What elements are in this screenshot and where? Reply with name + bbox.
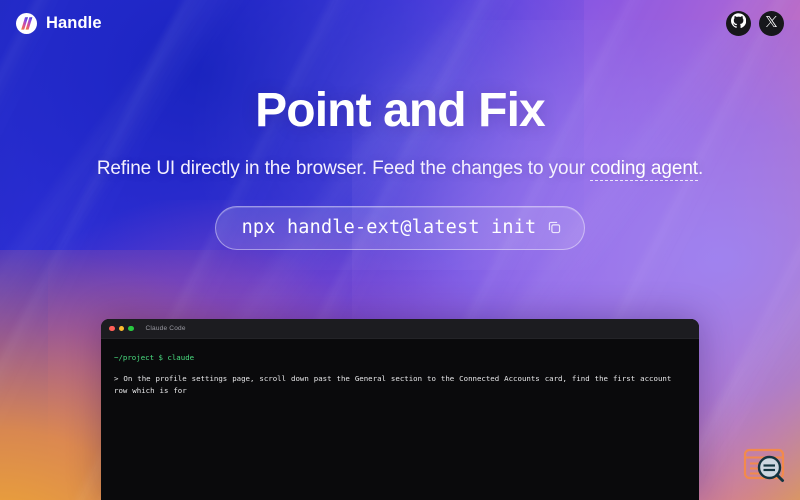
traffic-light-minimize-icon[interactable]	[119, 326, 125, 332]
hero-section: Point and Fix Refine UI directly in the …	[0, 86, 800, 250]
terminal-title: Claude Code	[146, 325, 186, 332]
site-header: Handle	[0, 0, 800, 46]
inspect-element-widget[interactable]	[736, 436, 792, 492]
hero-subtitle-text-after: .	[698, 158, 703, 179]
hero-subtitle-text-before: Refine UI directly in the browser. Feed …	[97, 158, 591, 179]
x-twitter-link[interactable]	[759, 11, 784, 36]
command-row: npx handle-ext@latest init	[40, 206, 760, 250]
page-title: Point and Fix	[40, 86, 760, 137]
terminal-body[interactable]: ~/project $ claude > On the profile sett…	[101, 339, 699, 397]
brand-logo[interactable]: Handle	[16, 13, 102, 34]
coding-agent-link[interactable]: coding agent	[590, 158, 698, 181]
social-links	[726, 11, 784, 36]
terminal-user-message: > On the profile settings page, scroll d…	[114, 373, 686, 397]
traffic-light-close-icon[interactable]	[109, 326, 115, 332]
inspect-element-widget-icon	[736, 479, 792, 496]
brand-name: Handle	[46, 14, 102, 33]
hero-subtitle: Refine UI directly in the browser. Feed …	[40, 157, 760, 182]
github-link[interactable]	[726, 11, 751, 36]
terminal-prompt-line: ~/project $ claude	[114, 352, 686, 364]
copy-icon[interactable]	[547, 220, 562, 235]
traffic-light-maximize-icon[interactable]	[128, 326, 134, 332]
install-command-pill[interactable]: npx handle-ext@latest init	[215, 206, 586, 250]
handle-logo-icon	[16, 13, 37, 34]
terminal-window: Claude Code ~/project $ claude > On the …	[101, 319, 699, 500]
install-command-text: npx handle-ext@latest init	[242, 217, 537, 238]
terminal-title-bar: Claude Code	[101, 319, 699, 339]
github-icon	[731, 13, 746, 33]
x-twitter-icon	[766, 14, 777, 32]
